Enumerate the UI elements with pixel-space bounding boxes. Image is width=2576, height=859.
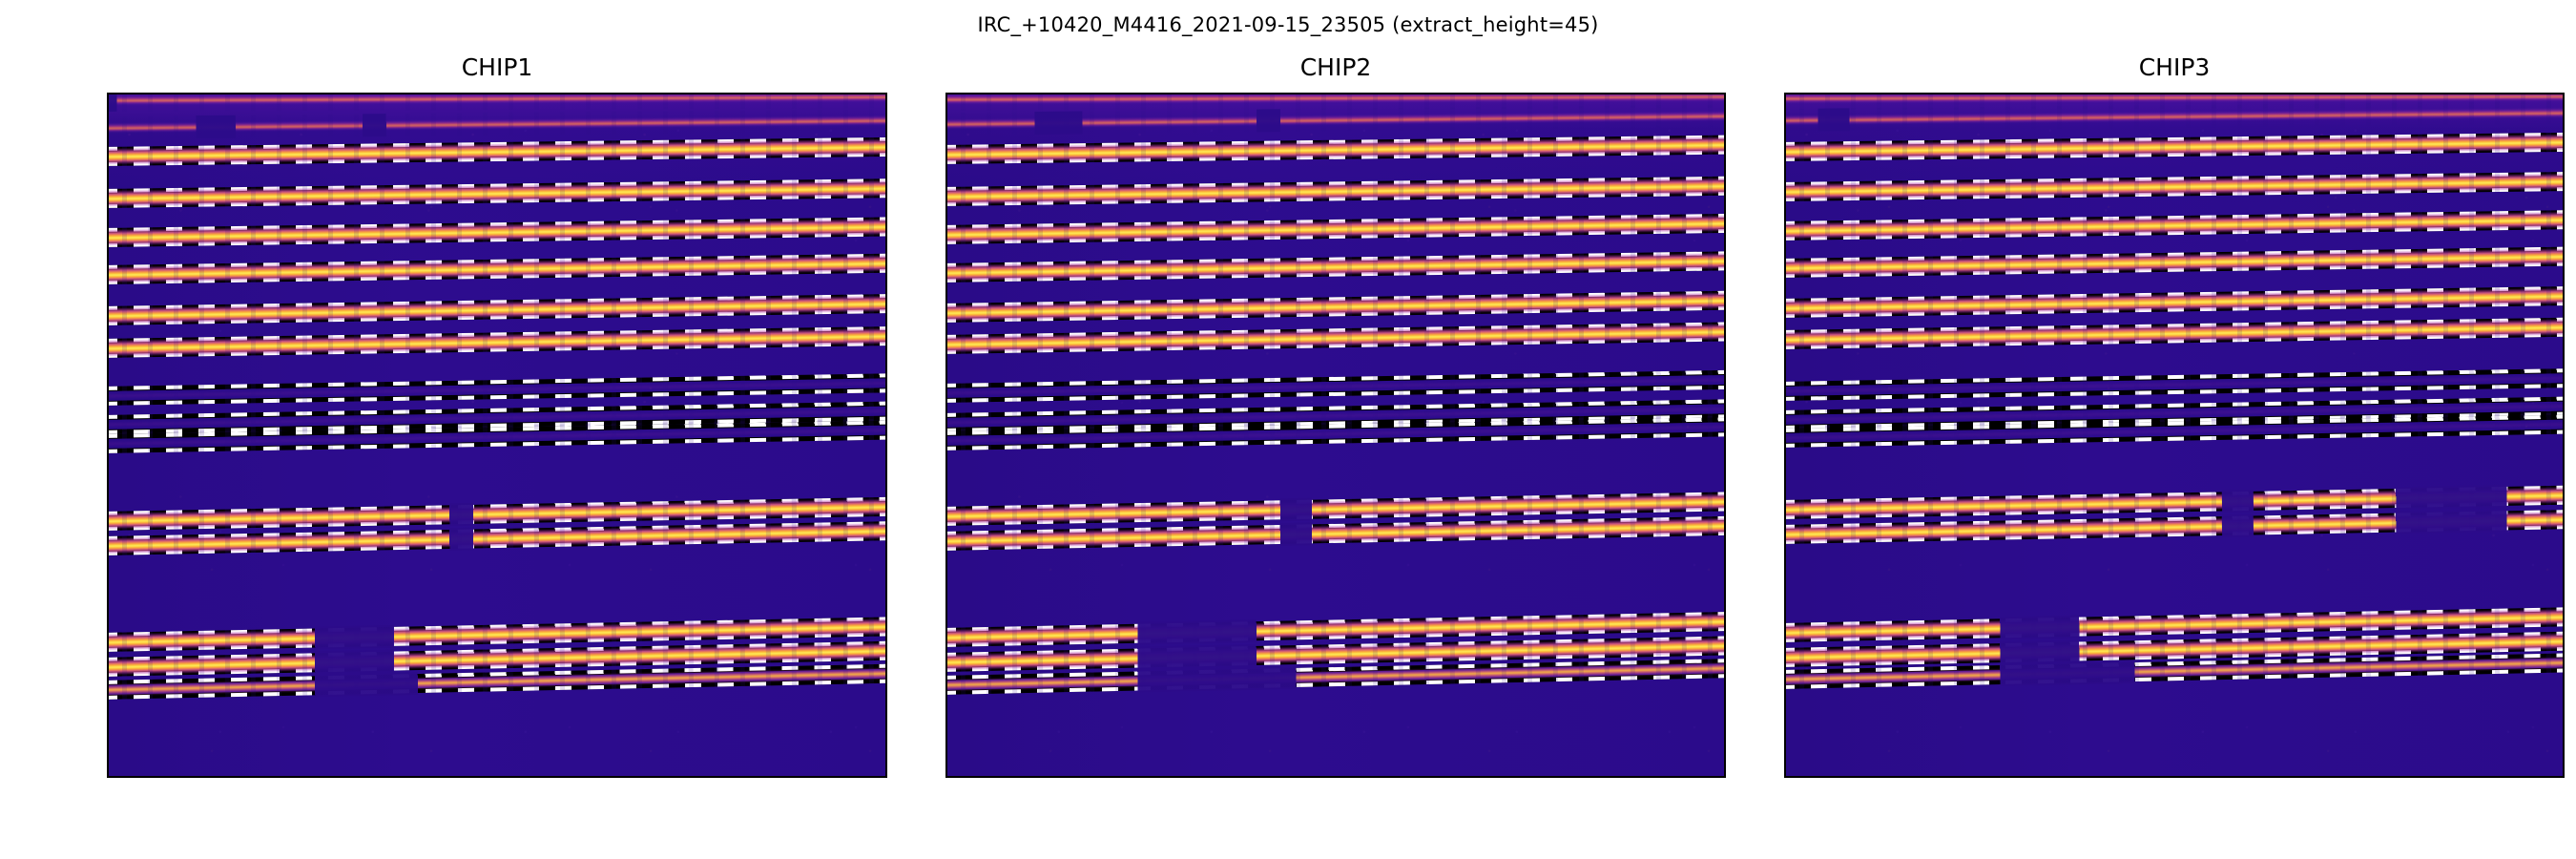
spectral-order — [107, 147, 887, 157]
figure-canvas: IRC_+10420_M4416_2021-09-15_23505 (extra… — [0, 0, 2576, 859]
spectral-order — [1784, 425, 2565, 438]
x-tick-mark — [2166, 776, 2168, 778]
detector-surface — [109, 94, 885, 776]
x-tick-mark — [203, 776, 205, 778]
y-tick-mark — [1784, 110, 1786, 112]
spectral-order — [107, 507, 887, 521]
detector-surface — [1786, 94, 2563, 776]
spectral-order — [945, 525, 1726, 540]
spectral-order — [945, 96, 1726, 99]
x-tick-mark — [2452, 776, 2454, 778]
spectral-order — [107, 626, 887, 642]
x-tick-mark — [2261, 776, 2263, 778]
spectral-order — [1784, 617, 2565, 633]
spectral-order — [1784, 113, 2565, 120]
x-tick-mark — [1327, 776, 1329, 778]
spectral-order — [945, 300, 1726, 312]
x-tick-mark — [946, 776, 948, 778]
spectral-order — [1784, 296, 2565, 308]
spectral-order — [107, 531, 887, 546]
spectral-order — [945, 223, 1726, 235]
spectral-order — [1784, 96, 2565, 98]
spectral-order — [945, 115, 1726, 124]
spectral-order — [1784, 326, 2565, 339]
spectral-order — [107, 429, 887, 443]
spectral-order — [945, 185, 1726, 196]
detector-image-chip1[interactable]: 0250500750100012501500175020000250500750… — [107, 93, 887, 778]
x-tick-mark — [584, 776, 586, 778]
y-tick-mark — [107, 444, 109, 446]
spectral-order — [107, 226, 887, 238]
x-tick-mark — [1137, 776, 1139, 778]
x-tick-mark — [870, 776, 872, 778]
y-tick-mark — [1784, 444, 1786, 446]
y-tick-mark — [107, 695, 109, 697]
y-tick-mark — [945, 695, 947, 697]
x-tick-mark — [679, 776, 681, 778]
detector-image-chip3[interactable]: 025050075010001250150017502000pixel — [1784, 93, 2565, 778]
spectral-order — [945, 332, 1726, 346]
spectral-order — [107, 120, 887, 128]
spectral-order — [945, 427, 1726, 441]
y-tick-mark — [945, 361, 947, 363]
spectral-order — [107, 304, 887, 316]
spectral-order — [1784, 220, 2565, 231]
x-tick-mark — [2357, 776, 2358, 778]
y-tick-mark — [1784, 528, 1786, 530]
x-tick-mark — [2071, 776, 2073, 778]
x-tick-mark — [1042, 776, 1044, 778]
detector-surface — [947, 94, 1724, 776]
x-tick-mark — [1709, 776, 1711, 778]
y-tick-mark — [107, 361, 109, 363]
spectral-order — [1784, 141, 2565, 151]
y-tick-mark — [1784, 612, 1786, 614]
spectral-order — [945, 380, 1726, 393]
y-tick-mark — [945, 110, 947, 112]
figure-suptitle: IRC_+10420_M4416_2021-09-15_23505 (extra… — [0, 13, 2576, 36]
y-tick-mark — [1784, 277, 1786, 279]
subplot-title-chip1: CHIP1 — [107, 53, 887, 81]
subplot-title-chip3: CHIP3 — [1784, 53, 2565, 81]
subplot-chip3: CHIP3025050075010001250150017502000pixel — [1784, 93, 2565, 778]
spectral-order — [945, 145, 1726, 155]
y-tick-mark — [945, 193, 947, 195]
spectral-order — [945, 261, 1726, 273]
x-tick-mark — [775, 776, 777, 778]
detector-image-chip2[interactable]: 025050075010001250150017502000pixel — [945, 93, 1726, 778]
spectral-order — [1784, 257, 2565, 268]
spectral-order — [107, 188, 887, 199]
x-tick-mark — [1880, 776, 1882, 778]
spectral-order — [945, 502, 1726, 517]
spectral-order — [1784, 519, 2565, 534]
subplot-chip1: CHIP102505007501000125015001750200002505… — [107, 93, 887, 778]
spectral-order — [107, 383, 887, 396]
x-tick-mark — [394, 776, 396, 778]
subplot-chip2: CHIP2025050075010001250150017502000pixel — [945, 93, 1726, 778]
y-tick-mark — [107, 528, 109, 530]
spectral-order — [1784, 181, 2565, 192]
x-tick-mark — [1785, 776, 1787, 778]
x-tick-mark — [1613, 776, 1615, 778]
y-tick-mark — [1784, 695, 1786, 697]
y-tick-mark — [945, 444, 947, 446]
y-tick-mark — [945, 277, 947, 279]
y-tick-mark — [107, 193, 109, 195]
x-tick-mark — [108, 776, 110, 778]
x-tick-mark — [488, 776, 490, 778]
y-tick-mark — [945, 612, 947, 614]
x-tick-mark — [1233, 776, 1235, 778]
x-tick-mark — [1518, 776, 1520, 778]
spectral-order — [1784, 495, 2565, 510]
x-tick-mark — [1976, 776, 1978, 778]
y-tick-mark — [107, 110, 109, 112]
spectral-order — [107, 263, 887, 275]
spectral-order — [107, 336, 887, 348]
x-tick-mark — [299, 776, 301, 778]
y-tick-mark — [1784, 193, 1786, 195]
y-tick-mark — [107, 277, 109, 279]
y-tick-mark — [945, 528, 947, 530]
y-tick-mark — [107, 612, 109, 614]
spectral-order — [1784, 378, 2565, 391]
x-tick-mark — [2547, 776, 2549, 778]
y-tick-mark — [1784, 361, 1786, 363]
subplot-title-chip2: CHIP2 — [945, 53, 1726, 81]
spectral-order — [107, 97, 887, 101]
x-tick-mark — [1423, 776, 1424, 778]
